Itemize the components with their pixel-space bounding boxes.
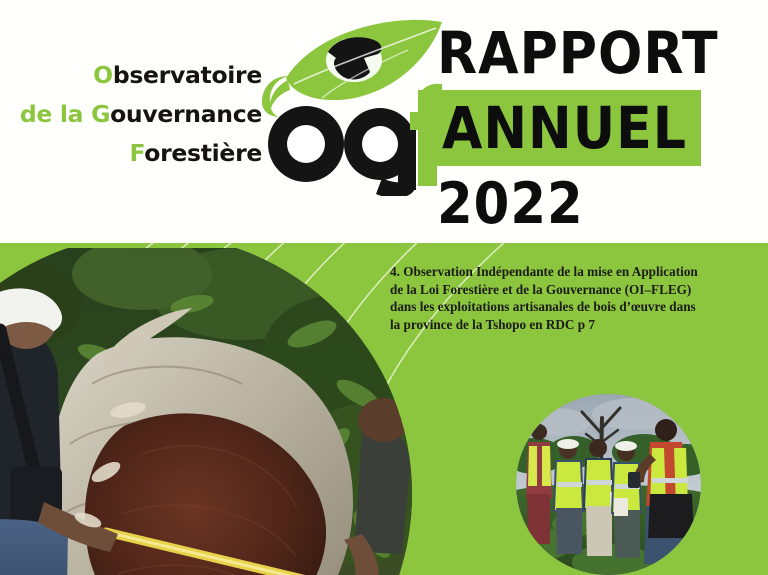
leaf-eye-icon — [262, 20, 442, 117]
cover-blurb: 4. Observation Indépendante de la mise e… — [390, 263, 746, 333]
blurb-line-3: dans les exploitations artisanales de bo… — [390, 298, 746, 316]
tagline-line-1-rest: bservatoire — [113, 61, 262, 89]
team-member — [526, 424, 552, 544]
cover-header: Observatoire de la Gouvernance Forestièr… — [0, 0, 768, 243]
title-rapport: RAPPORT — [437, 24, 757, 82]
tagline-prefix-dela: de la — [20, 100, 91, 128]
tagline-line-3: Forestière — [0, 134, 262, 173]
title-year: 2022 — [437, 176, 757, 233]
tagline-accent-f: F — [129, 139, 144, 167]
ogf-logo — [258, 16, 444, 196]
tagline-accent-o: O — [93, 61, 113, 89]
tagline-line-1: Observatoire — [0, 56, 262, 95]
photo-field-team — [516, 394, 701, 575]
tagline-line-3-rest: orestière — [144, 139, 262, 167]
organisation-tagline: Observatoire de la Gouvernance Forestièr… — [0, 56, 262, 173]
ogf-wordmark — [268, 84, 444, 196]
title-annuel: ANNUEL — [436, 90, 701, 166]
tagline-line-2-rest: ouvernance — [110, 100, 262, 128]
tagline-accent-g: G — [91, 100, 110, 128]
blurb-line-4: la province de la Tshopo en RDC p 7 — [390, 316, 746, 334]
report-cover: Observatoire de la Gouvernance Forestièr… — [0, 0, 768, 575]
tagline-line-2: de la Gouvernance — [0, 95, 262, 134]
blurb-line-2: de la Loi Forestière et de la Gouvernanc… — [390, 281, 746, 299]
blurb-line-1: 4. Observation Indépendante de la mise e… — [390, 263, 746, 281]
photo-log-measurement — [0, 248, 430, 575]
photo-log-measurement-mask — [0, 248, 412, 575]
cover-title-block: RAPPORT ANNUEL 2022 — [437, 24, 757, 233]
